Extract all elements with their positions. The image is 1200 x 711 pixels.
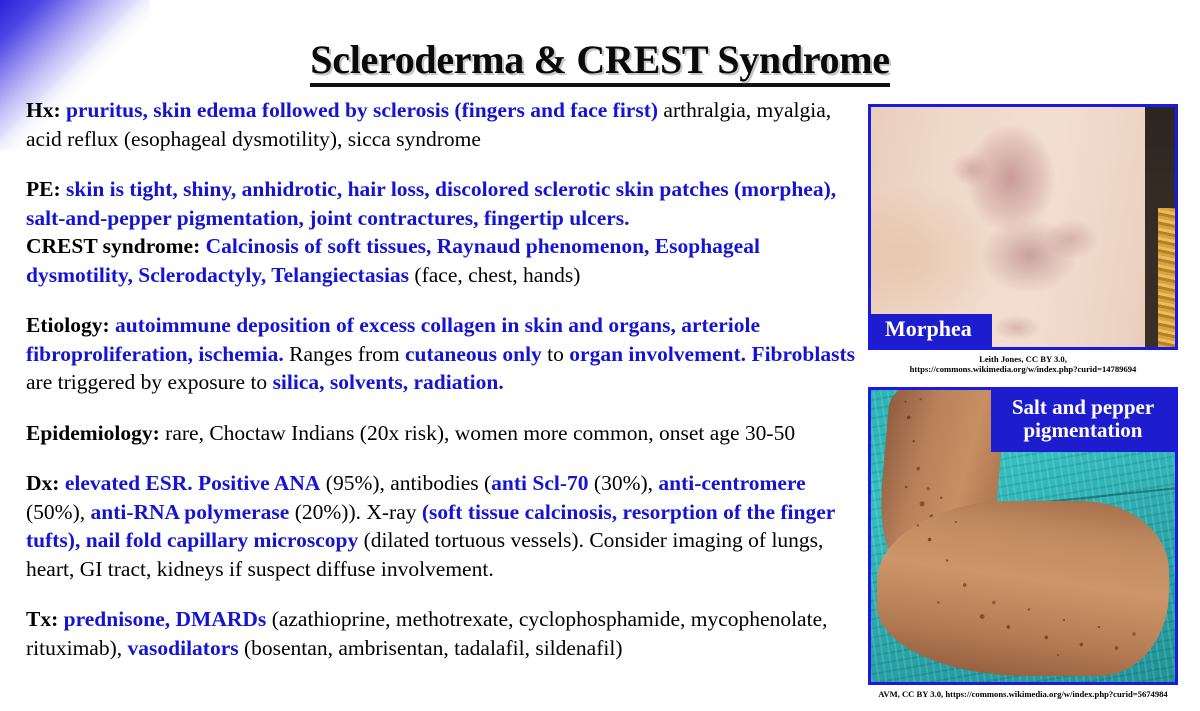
figure-morphea-attribution: Leith Jones, CC BY 3.0, https://commons.… xyxy=(868,350,1178,375)
section-crest-rest: (face, chest, hands) xyxy=(409,263,580,287)
figure-salt-and-pepper-attribution-line1: AVM, CC BY 3.0, https://commons.wikimedi… xyxy=(878,689,1167,699)
section-hx-key: Hx: xyxy=(26,98,61,122)
figure-spacer xyxy=(868,375,1178,387)
section-etiology-highlight-4: Fibroblasts xyxy=(751,342,855,366)
section-hx-highlight: pruritus, skin edema followed by scleros… xyxy=(66,98,658,122)
figure-morphea-attribution-line2: https://commons.wikimedia.org/w/index.ph… xyxy=(868,364,1178,374)
morphea-photo xyxy=(871,107,1175,347)
section-hx: Hx: pruritus, skin edema followed by scl… xyxy=(26,96,862,153)
figure-salt-and-pepper: Salt and pepper pigmentation AVM, CC BY … xyxy=(868,387,1178,699)
section-epidemiology-rest: rare, Choctaw Indians (20x risk), women … xyxy=(160,421,795,445)
section-dx-highlight-2: anti Scl-70 xyxy=(491,471,588,495)
section-dx-plain-4: (20%)). X-ray xyxy=(289,500,422,524)
section-tx-key: Tx: xyxy=(26,607,58,631)
content-column: Hx: pruritus, skin edema followed by scl… xyxy=(26,96,862,662)
section-dx-plain-1: (95%), antibodies ( xyxy=(320,471,491,495)
section-etiology-key: Etiology: xyxy=(26,313,110,337)
figure-salt-and-pepper-attribution: AVM, CC BY 3.0, https://commons.wikimedi… xyxy=(868,685,1178,699)
section-etiology-plain-1: Ranges from xyxy=(284,342,405,366)
page-title: Scleroderma & CREST Syndrome xyxy=(0,36,1200,83)
section-etiology-plain-3: are triggered by exposure to xyxy=(26,370,273,394)
section-dx: Dx: elevated ESR. Positive ANA (95%), an… xyxy=(26,469,862,583)
arm-lower-segment xyxy=(877,501,1169,676)
figure-salt-and-pepper-label: Salt and pepper pigmentation xyxy=(991,390,1175,452)
section-dx-key: Dx: xyxy=(26,471,59,495)
section-etiology-plain-2: to xyxy=(542,342,569,366)
figure-morphea-frame: Morphea xyxy=(868,104,1178,350)
section-etiology-highlight-5: silica, solvents, radiation. xyxy=(273,370,504,394)
page-title-text: Scleroderma & CREST Syndrome xyxy=(310,37,889,87)
section-pe-key: PE: xyxy=(26,177,61,201)
section-dx-plain-3: (50%), xyxy=(26,500,90,524)
section-dx-highlight-1: elevated ESR. Positive ANA xyxy=(65,471,321,495)
figure-morphea-attribution-line1: Leith Jones, CC BY 3.0, xyxy=(979,354,1067,364)
section-epidemiology: Epidemiology: rare, Choctaw Indians (20x… xyxy=(26,419,862,448)
section-etiology-highlight-2: cutaneous only xyxy=(405,342,542,366)
section-tx: Tx: prednisone, DMARDs (azathioprine, me… xyxy=(26,605,862,662)
section-etiology-highlight-3: organ involvement. xyxy=(569,342,746,366)
section-etiology: Etiology: autoimmune deposition of exces… xyxy=(26,311,862,397)
figure-salt-and-pepper-frame: Salt and pepper pigmentation xyxy=(868,387,1178,685)
section-tx-highlight-2: vasodilators xyxy=(128,636,239,660)
section-pe: PE: skin is tight, shiny, anhidrotic, ha… xyxy=(26,175,862,289)
section-pe-highlight: skin is tight, shiny, anhidrotic, hair l… xyxy=(26,177,836,230)
section-crest-key: CREST syndrome: xyxy=(26,234,200,258)
section-dx-plain-2: (30%), xyxy=(589,471,659,495)
section-tx-plain-2: (bosentan, ambrisentan, tadalafil, silde… xyxy=(239,636,623,660)
section-tx-highlight-1: prednisone, DMARDs xyxy=(64,607,267,631)
figure-morphea: Morphea Leith Jones, CC BY 3.0, https://… xyxy=(868,104,1178,375)
section-epidemiology-key: Epidemiology: xyxy=(26,421,160,445)
figure-column: Morphea Leith Jones, CC BY 3.0, https://… xyxy=(868,104,1178,699)
arm-lower-speckles xyxy=(877,501,1169,676)
morphea-photo-fabric-detail xyxy=(1158,208,1175,347)
section-dx-highlight-4: anti-RNA polymerase xyxy=(90,500,289,524)
section-dx-highlight-3: anti-centromere xyxy=(658,471,805,495)
figure-morphea-label: Morphea xyxy=(871,314,992,347)
